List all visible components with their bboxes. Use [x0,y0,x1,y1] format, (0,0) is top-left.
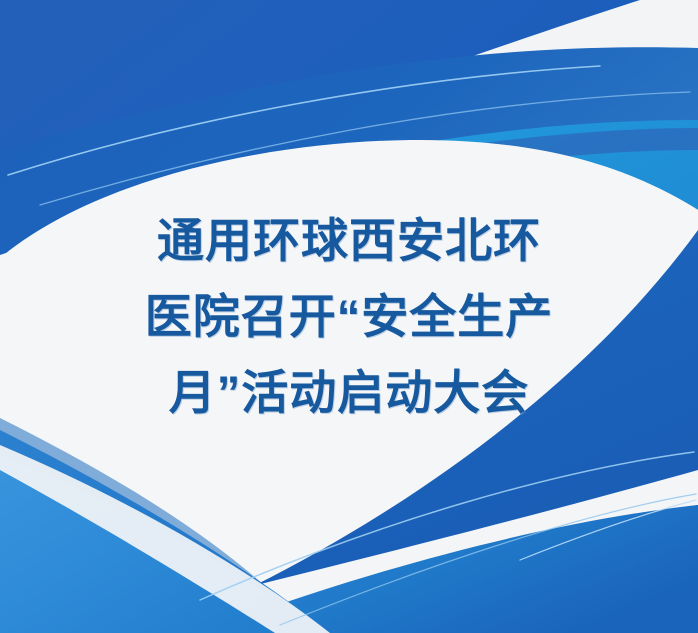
decorative-background [0,0,698,633]
poster-canvas: 通用环球西安北环 医院召开“安全生产 月”活动启动大会 [0,0,698,633]
